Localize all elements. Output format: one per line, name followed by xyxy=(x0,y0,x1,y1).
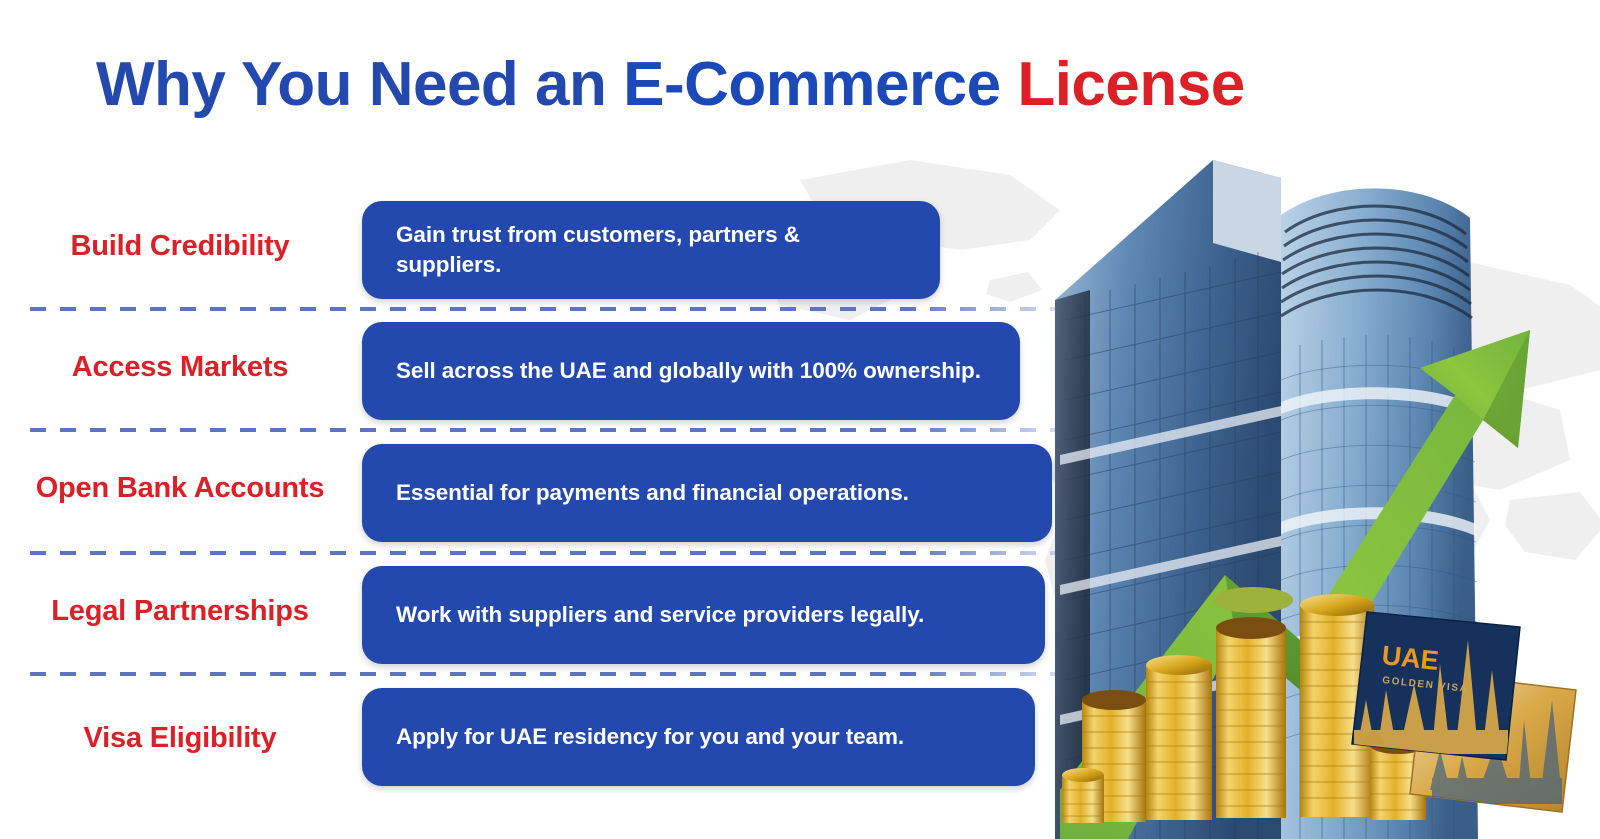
infographic-canvas: Why You Need an E-Commerce License Build… xyxy=(0,0,1600,839)
green-growth-arrow xyxy=(1060,330,1530,839)
row-label-visa-eligibility: Visa Eligibility xyxy=(20,722,340,755)
golden-visa-card-front: UAE GOLDEN VISA xyxy=(1352,612,1520,760)
callout-box-visa-eligibility[interactable]: Apply for UAE residency for you and your… xyxy=(362,688,1035,786)
callout-box-build-credibility[interactable]: Gain trust from customers, partners & su… xyxy=(362,201,940,299)
title-part-license: License xyxy=(1001,50,1245,119)
row-label-legal-partnerships: Legal Partnerships xyxy=(20,595,340,628)
title-part-plain: Why You Need an xyxy=(96,50,623,119)
row-separator-2 xyxy=(30,428,1155,432)
building-left-slab xyxy=(1055,160,1281,839)
row-separator-4 xyxy=(30,672,1155,676)
golden-visa-card-back: GOLDEN xyxy=(1410,672,1576,812)
svg-text:GOLDEN: GOLDEN xyxy=(1436,689,1489,709)
callout-box-legal-partnerships[interactable]: Work with suppliers and service provider… xyxy=(362,566,1045,664)
row-label-open-bank-accounts: Open Bank Accounts xyxy=(20,472,340,505)
row-label-access-markets: Access Markets xyxy=(20,351,340,384)
card-title: UAE xyxy=(1380,640,1440,676)
row-separator-1 xyxy=(30,307,1155,311)
page-title: Why You Need an E-Commerce License xyxy=(96,52,1245,117)
title-part-ecommerce: E-Commerce xyxy=(623,50,1000,119)
card-subtitle: GOLDEN VISA xyxy=(1382,675,1469,695)
gold-coin-stacks xyxy=(1062,587,1426,823)
row-label-build-credibility: Build Credibility xyxy=(20,230,340,263)
callout-box-access-markets[interactable]: Sell across the UAE and globally with 10… xyxy=(362,322,1020,420)
building-curved-tower xyxy=(1281,188,1478,839)
row-separator-3 xyxy=(30,551,1155,555)
callout-box-open-bank-accounts[interactable]: Essential for payments and financial ope… xyxy=(362,444,1052,542)
